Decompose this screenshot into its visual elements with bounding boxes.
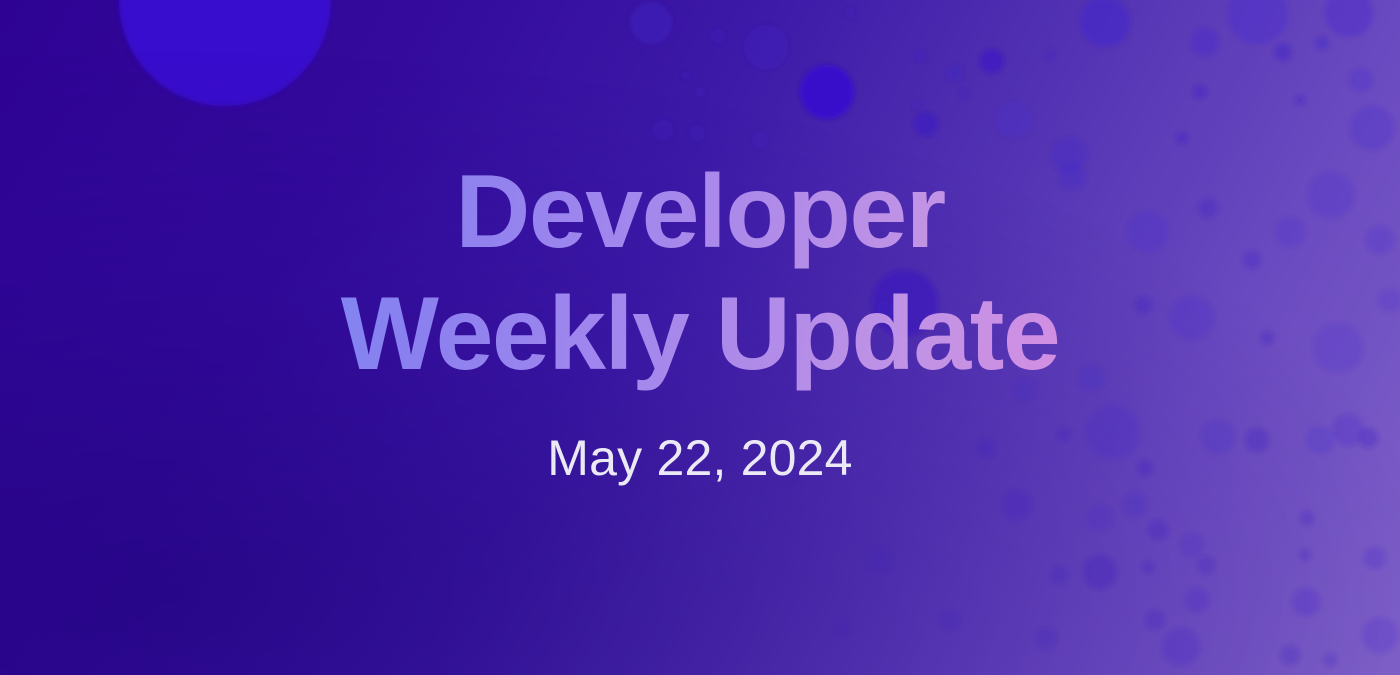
- page-title: Developer Weekly Update: [301, 152, 1099, 395]
- hero-content: Developer Weekly Update May 22, 2024: [0, 0, 1400, 675]
- page-title-line-2: Weekly Update: [341, 274, 1059, 396]
- page-title-line-1: Developer: [341, 152, 1059, 274]
- newsletter-hero-banner: Developer Weekly Update May 22, 2024: [0, 0, 1400, 675]
- issue-date: May 22, 2024: [547, 429, 852, 487]
